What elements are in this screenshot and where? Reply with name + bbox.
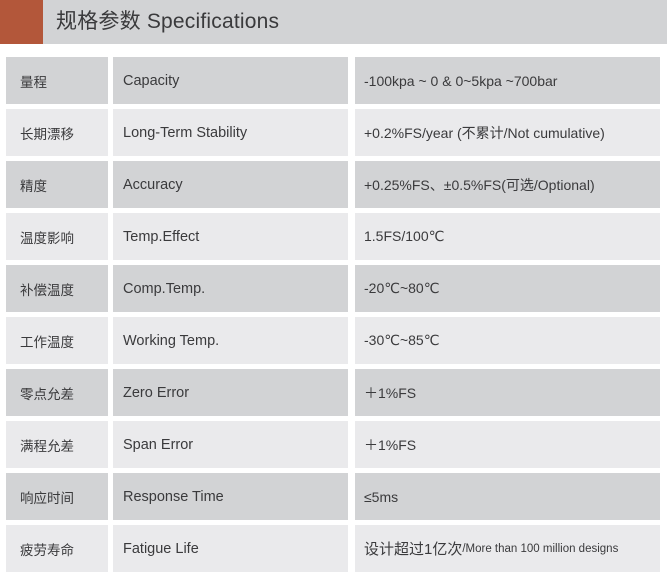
table-row: 响应时间Response Time≤5ms [0, 473, 667, 520]
spec-value-en: /More than 100 million designs [462, 543, 618, 555]
spec-value: ≤5ms [355, 473, 660, 520]
spec-label-cn: 工作温度 [6, 317, 108, 364]
spec-value: 设计超过1亿次/More than 100 million designs [355, 525, 660, 572]
spec-label-cn: 精度 [6, 161, 108, 208]
spec-value: -100kpa ~ 0 & 0~5kpa ~700bar [355, 57, 660, 104]
spec-label-en: Fatigue Life [113, 525, 348, 572]
table-row: 精度Accuracy+0.25%FS、±0.5%FS(可选/Optional) [0, 161, 667, 208]
section-header-bar: 规格参数 Specifications [0, 0, 667, 44]
specifications-page: 规格参数 Specifications 量程Capacity-100kpa ~ … [0, 0, 667, 540]
table-row: 疲劳寿命Fatigue Life设计超过1亿次/More than 100 mi… [0, 525, 667, 572]
spec-value: -30℃~85℃ [355, 317, 660, 364]
spec-label-cn: 量程 [6, 57, 108, 104]
spec-label-en: Working Temp. [113, 317, 348, 364]
spec-value: ＋1%FS [355, 369, 660, 416]
spec-label-cn: 零点允差 [6, 369, 108, 416]
table-row: 量程Capacity-100kpa ~ 0 & 0~5kpa ~700bar [0, 57, 667, 104]
spec-label-en: Response Time [113, 473, 348, 520]
spec-label-cn: 响应时间 [6, 473, 108, 520]
spec-label-en: Long-Term Stability [113, 109, 348, 156]
table-row: 零点允差Zero Error＋1%FS [0, 369, 667, 416]
spec-label-en: Temp.Effect [113, 213, 348, 260]
page-title: 规格参数 Specifications [56, 0, 279, 44]
spec-label-cn: 长期漂移 [6, 109, 108, 156]
spec-label-en: Accuracy [113, 161, 348, 208]
table-row: 温度影响Temp.Effect1.5FS/100℃ [0, 213, 667, 260]
spec-value: ＋1%FS [355, 421, 660, 468]
spec-value: -20℃~80℃ [355, 265, 660, 312]
header-accent-block [0, 0, 43, 44]
spec-label-en: Span Error [113, 421, 348, 468]
table-row: 工作温度Working Temp.-30℃~85℃ [0, 317, 667, 364]
spec-value: +0.25%FS、±0.5%FS(可选/Optional) [355, 161, 660, 208]
table-row: 满程允差Span Error＋1%FS [0, 421, 667, 468]
spec-value-cn: 设计超过1亿次 [364, 538, 462, 559]
spec-label-en: Zero Error [113, 369, 348, 416]
spec-label-cn: 满程允差 [6, 421, 108, 468]
spec-label-cn: 疲劳寿命 [6, 525, 108, 572]
table-row: 长期漂移Long-Term Stability+0.2%FS/year (不累计… [0, 109, 667, 156]
spec-label-cn: 温度影响 [6, 213, 108, 260]
specifications-table: 量程Capacity-100kpa ~ 0 & 0~5kpa ~700bar长期… [0, 57, 667, 577]
spec-value: +0.2%FS/year (不累计/Not cumulative) [355, 109, 660, 156]
spec-label-cn: 补偿温度 [6, 265, 108, 312]
table-row: 补偿温度Comp.Temp.-20℃~80℃ [0, 265, 667, 312]
spec-value: 1.5FS/100℃ [355, 213, 660, 260]
spec-label-en: Comp.Temp. [113, 265, 348, 312]
spec-label-en: Capacity [113, 57, 348, 104]
